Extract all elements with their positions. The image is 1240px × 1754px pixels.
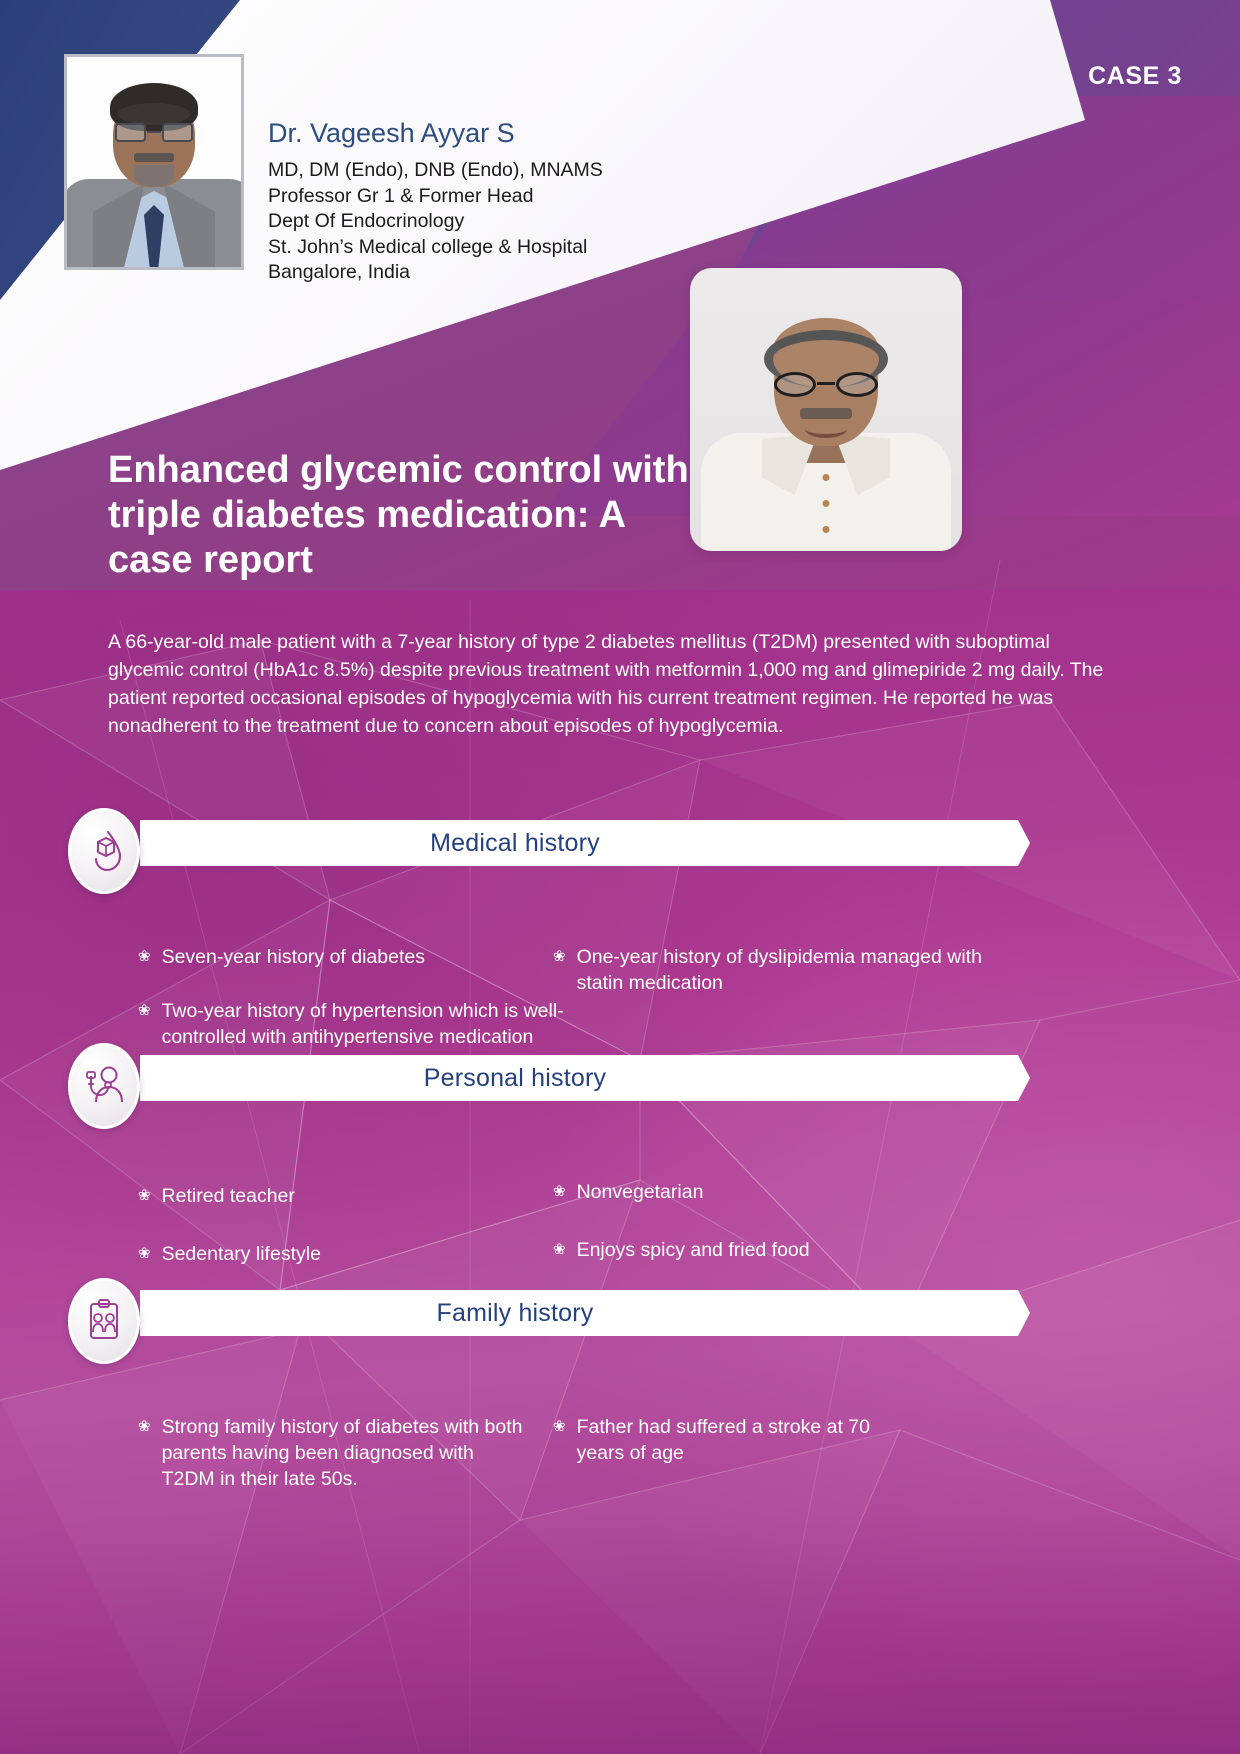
family-clipboard-icon <box>68 1278 140 1364</box>
list-item-text: Retired teacher <box>162 1183 295 1209</box>
list-item: ❀ Two-year history of hypertension which… <box>138 998 608 1050</box>
list-item: ❀ Enjoys spicy and fried food <box>553 1237 810 1263</box>
speaker-photo-card <box>690 268 962 551</box>
list-item-text: Sedentary lifestyle <box>162 1241 321 1267</box>
section-banner-personal-history: Personal history <box>140 1055 1030 1101</box>
case-report-page: CASE 3 Dr. Vageesh Ayyar S MD, DM (Endo)… <box>0 0 1240 1754</box>
bullet-marker-icon: ❀ <box>138 998 151 1050</box>
patient-stethoscope-icon <box>68 1043 140 1129</box>
section-medical-history: Medical history ❀ Seven-year history of … <box>0 820 1240 1006</box>
doctor-portrait-photo <box>64 54 244 270</box>
section-family-history: Family history ❀ Strong family history o… <box>0 1290 1240 1486</box>
bullet-marker-icon: ❀ <box>553 1237 566 1263</box>
list-item-text: One-year history of dyslipidemia managed… <box>577 944 1003 996</box>
section-personal-history: Personal history ❀ Retired teacher ❀ Non… <box>0 1055 1240 1251</box>
bullet-marker-icon: ❀ <box>553 944 566 996</box>
page-title: Enhanced glycemic control with triple di… <box>108 448 708 583</box>
bullet-marker-icon: ❀ <box>553 1179 566 1205</box>
list-item: ❀ Nonvegetarian <box>553 1179 703 1205</box>
list-item-text: Enjoys spicy and fried food <box>577 1237 810 1263</box>
section-banner-family-history: Family history <box>140 1290 1030 1336</box>
list-item: ❀ Father had suffered a stroke at 70 yea… <box>553 1414 883 1466</box>
bullet-marker-icon: ❀ <box>138 944 151 970</box>
list-item: ❀ Sedentary lifestyle <box>138 1241 321 1267</box>
list-item-text: Two-year history of hypertension which i… <box>162 998 608 1050</box>
case-label: CASE 3 <box>1088 62 1182 91</box>
bottom-gradient-fade <box>0 1514 1240 1754</box>
list-item-text: Nonvegetarian <box>577 1179 704 1205</box>
list-item-text: Strong family history of diabetes with b… <box>162 1414 528 1492</box>
list-item: ❀ One-year history of dyslipidemia manag… <box>553 944 1003 996</box>
section-title-medical-history: Medical history <box>430 829 600 858</box>
list-item-text: Father had suffered a stroke at 70 years… <box>577 1414 883 1466</box>
bullet-marker-icon: ❀ <box>553 1414 566 1466</box>
bullet-marker-icon: ❀ <box>138 1241 151 1267</box>
bullet-marker-icon: ❀ <box>138 1183 151 1209</box>
list-item-text: Seven-year history of diabetes <box>162 944 425 970</box>
case-summary-paragraph: A 66-year-old male patient with a 7-year… <box>108 628 1118 740</box>
section-title-personal-history: Personal history <box>424 1064 606 1093</box>
section-title-family-history: Family history <box>437 1299 594 1328</box>
list-item: ❀ Seven-year history of diabetes <box>138 944 558 970</box>
doctor-name: Dr. Vageesh Ayyar S <box>268 118 515 149</box>
list-item: ❀ Retired teacher <box>138 1183 295 1209</box>
doctor-credentials: MD, DM (Endo), DNB (Endo), MNAMS Profess… <box>268 158 603 286</box>
section-banner-medical-history: Medical history <box>140 820 1030 866</box>
list-item: ❀ Strong family history of diabetes with… <box>138 1414 528 1492</box>
blood-drop-icon <box>68 808 140 894</box>
bullet-marker-icon: ❀ <box>138 1414 151 1492</box>
